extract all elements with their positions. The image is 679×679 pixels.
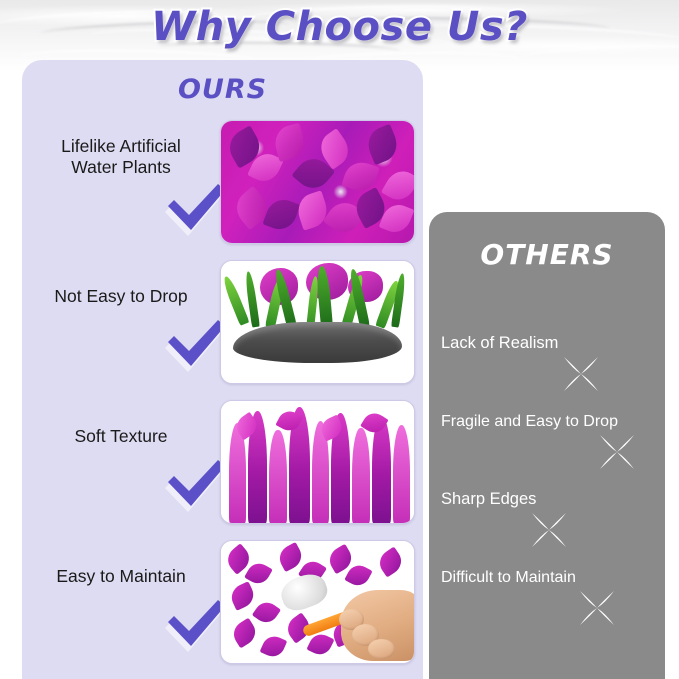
why-choose-us-infographic: Why Choose Us? OURS Lifelike Artificial … xyxy=(0,0,679,679)
ours-panel: OURS Lifelike Artificial Water Plants xyxy=(22,60,423,679)
x-cross-icon xyxy=(597,432,637,472)
others-drawback-row: Lack of Realism xyxy=(429,324,665,402)
x-cross-icon xyxy=(577,588,617,628)
ours-product-thumbnail xyxy=(220,540,415,664)
ours-feature-row: Lifelike Artificial Water Plants xyxy=(22,112,423,252)
ours-heading: OURS xyxy=(22,74,423,105)
others-drawback-row: Difficult to Maintain xyxy=(429,558,665,636)
check-icon xyxy=(164,182,228,234)
x-cross-icon xyxy=(529,510,569,550)
others-drawback-row: Sharp Edges xyxy=(429,480,665,558)
ours-feature-row: Not Easy to Drop xyxy=(22,252,423,392)
others-heading: OTHERS xyxy=(429,238,665,271)
check-icon xyxy=(164,458,228,510)
ours-feature-row: Easy to Maintain xyxy=(22,532,423,672)
ours-product-thumbnail xyxy=(220,120,415,244)
ours-feature-row: Soft Texture xyxy=(22,392,423,532)
others-drawback-label: Difficult to Maintain xyxy=(441,568,655,587)
others-drawback-label: Lack of Realism xyxy=(441,334,655,354)
page-title: Why Choose Us? xyxy=(0,4,679,50)
ours-product-thumbnail xyxy=(220,260,415,384)
ours-feature-label: Lifelike Artificial Water Plants xyxy=(31,136,211,179)
check-icon xyxy=(164,318,228,370)
others-panel: OTHERS Lack of Realism Fragile and Easy … xyxy=(429,212,665,679)
others-drawback-row: Fragile and Easy to Drop xyxy=(429,402,665,480)
ours-product-thumbnail xyxy=(220,400,415,524)
others-drawback-label: Fragile and Easy to Drop xyxy=(441,412,655,431)
ours-feature-label: Easy to Maintain xyxy=(31,566,211,587)
others-drawback-label: Sharp Edges xyxy=(441,490,655,510)
ours-feature-label: Soft Texture xyxy=(31,426,211,447)
ours-feature-label: Not Easy to Drop xyxy=(31,286,211,307)
x-cross-icon xyxy=(561,354,601,394)
check-icon xyxy=(164,598,228,650)
